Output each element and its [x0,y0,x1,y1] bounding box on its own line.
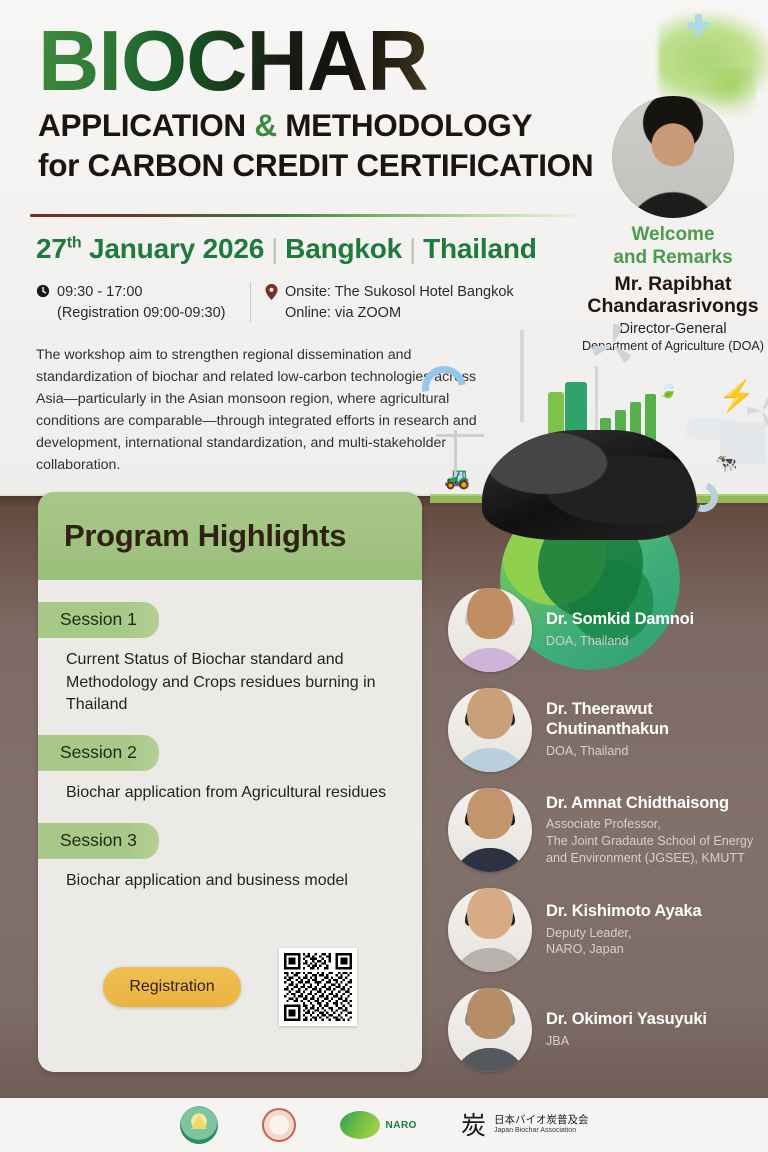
event-day-ordinal: th [67,235,82,252]
event-registration-time: (Registration 09:00-09:30) [57,305,225,321]
speaker-role: Deputy Leader, NARO, Japan [546,925,701,958]
event-description: The workshop aim to strengthen regional … [36,344,486,476]
session-3-text: Biochar application and business model [66,870,394,893]
tractor-icon: 🚜 [444,468,470,489]
speaker-name: Dr. Amnat Chidthaisong [546,794,753,814]
welcome-name-line1: Mr. Rapibhat [614,273,731,295]
session-item: Session 1 Current Status of Biochar stan… [38,602,422,717]
page-title: BIOCHAR [38,22,598,103]
title-block: BIOCHAR APPLICATION & METHODOLOGY for CA… [38,22,598,184]
subtitle-part-1: APPLICATION [38,107,254,143]
speaker-info: Dr. Kishimoto Ayaka Deputy Leader, NARO,… [546,902,701,958]
location-pin-icon [265,284,278,304]
plus-icon [687,14,709,36]
program-sessions-list: Session 1 Current Status of Biochar stan… [38,580,422,893]
subtitle-carbon-credit: for CARBON CREDIT CERTIFICATION [38,147,598,184]
speaker-info: Dr. Okimori Yasuyuki JBA [546,1010,707,1049]
welcome-heading: Welcome and Remarks [580,224,766,270]
session-item: Session 3 Biochar application and busine… [38,823,422,893]
speaker-role: DOA, Thailand [546,633,694,650]
welcome-heading-line2: and Remarks [613,247,732,268]
royal-seal-logo [262,1108,296,1142]
avatar [448,888,532,972]
ampersand: & [254,107,276,143]
doa-emblem-icon [180,1106,218,1144]
avatar-face [467,788,513,839]
list-item: Dr. Kishimoto Ayaka Deputy Leader, NARO,… [448,880,760,980]
list-item: Dr. Theerawut Chutinanthakun DOA, Thaila… [448,680,760,780]
title-divider [30,214,575,217]
naro-mark-icon [340,1111,380,1139]
avatar [448,788,532,872]
program-highlights-title: Program Highlights [64,518,346,554]
speaker-name: Dr. Theerawut Chutinanthakun [546,700,760,740]
event-meta: 09:30 - 17:00 (Registration 09:00-09:30)… [36,282,514,323]
event-time: 09:30 - 17:00 [57,284,142,300]
registration-row: Registration [38,948,422,1026]
avatar-body [453,748,527,772]
registration-button[interactable]: Registration [103,967,240,1007]
cow-icon: 🐄 [715,454,737,472]
speaker-role: JBA [546,1033,707,1050]
qr-code-image [284,953,352,1021]
welcome-name-line2: Chandarasrivongs [587,295,758,317]
avatar-face [467,588,513,639]
avatar-face [467,888,513,939]
speaker-role: DOA, Thailand [546,743,760,760]
event-time-lines: 09:30 - 17:00 (Registration 09:00-09:30) [57,282,225,323]
speaker-info: Dr. Somkid Damnoi DOA, Thailand [546,610,694,649]
list-item: Dr. Okimori Yasuyuki JBA [448,980,760,1080]
event-day: 27 [36,233,67,264]
avatar-body [453,1048,527,1072]
list-item: Dr. Somkid Damnoi DOA, Thailand [448,580,760,680]
welcome-heading-line1: Welcome [631,224,714,245]
event-country: Thailand [423,233,537,264]
program-highlights-card: Program Highlights Session 1 Current Sta… [38,492,422,1072]
event-time-group: 09:30 - 17:00 (Registration 09:00-09:30) [36,282,246,323]
event-dateline: 27th January 2026|Bangkok|Thailand [36,233,537,265]
session-2-label: Session 2 [38,735,159,771]
event-venue-online: Online: via ZOOM [285,305,401,321]
subtitle-application-methodology: APPLICATION & METHODOLOGY [38,107,598,144]
jba-name-jp: 日本バイオ炭普及会 [494,1114,589,1127]
footer-logos: NARO 炭 日本バイオ炭普及会 Japan Biochar Associati… [0,1098,768,1152]
event-venue-onsite: Onsite: The Sukosol Hotel Bangkok [285,284,514,300]
avatar-face [467,688,513,739]
welcome-name: Mr. Rapibhat Chandarasrivongs [580,273,766,318]
speaker-info: Dr. Amnat Chidthaisong Associate Profess… [546,794,753,867]
speaker-role: Associate Professor, The Joint Gradaute … [546,816,753,866]
event-venue-group: Onsite: The Sukosol Hotel Bangkok Online… [265,282,514,323]
dateline-sep-1: | [271,233,278,264]
wind-turbine-small-icon [595,366,598,432]
biochar-lump-image [482,430,697,540]
speaker-info: Dr. Theerawut Chutinanthakun DOA, Thaila… [546,700,760,759]
avatar [448,988,532,1072]
speaker-name: Dr. Kishimoto Ayaka [546,902,701,922]
wind-turbine-icon [520,330,524,422]
avatar-face [467,988,513,1039]
energy-bolt-icon: ⚡ [718,382,755,412]
jba-name-en: Japan Biochar Association [494,1127,589,1135]
royal-seal-icon [262,1108,296,1142]
jba-logo: 炭 日本バイオ炭普及会 Japan Biochar Association [461,1113,589,1138]
speaker-name: Dr. Somkid Damnoi [546,610,694,630]
jba-kanji-icon: 炭 [461,1113,486,1138]
avatar-body [453,948,527,972]
turbine-blades-icon [592,324,634,366]
dateline-sep-2: | [409,233,416,264]
biochar-illustration: 🚜 🍃 🐄 ⚡ [430,330,768,590]
avatar-body [453,648,527,672]
naro-logo: NARO [340,1111,417,1139]
clock-icon [36,284,50,302]
welcome-remarks-block: Welcome and Remarks Mr. Rapibhat Chandar… [580,96,766,354]
session-1-label: Session 1 [38,602,159,638]
avatar-rapibhat [612,96,734,218]
speaker-name: Dr. Okimori Yasuyuki [546,1010,707,1030]
event-venue-lines: Onsite: The Sukosol Hotel Bangkok Online… [285,282,514,323]
meta-divider [250,282,251,322]
session-item: Session 2 Biochar application from Agric… [38,735,422,805]
poster-root: BIOCHAR APPLICATION & METHODOLOGY for CA… [0,0,768,1152]
doa-thailand-logo [180,1106,218,1144]
subtitle-part-2: METHODOLOGY [277,107,532,143]
avatar [448,688,532,772]
jba-text-group: 日本バイオ炭普及会 Japan Biochar Association [494,1114,589,1136]
event-month-year: January 2026 [81,233,264,264]
session-1-text: Current Status of Biochar standard and M… [66,649,394,717]
speakers-list: Dr. Somkid Damnoi DOA, Thailand Dr. Thee… [448,580,760,1080]
avatar-body [453,848,527,872]
qr-code[interactable] [279,948,357,1026]
event-city: Bangkok [285,233,402,264]
session-2-text: Biochar application from Agricultural re… [66,782,394,805]
list-item: Dr. Amnat Chidthaisong Associate Profess… [448,780,760,880]
leaves-icon: 🍃 [658,380,678,400]
naro-logo-text: NARO [386,1120,417,1131]
session-3-label: Session 3 [38,823,159,859]
avatar [448,588,532,672]
program-highlights-header: Program Highlights [38,492,422,580]
